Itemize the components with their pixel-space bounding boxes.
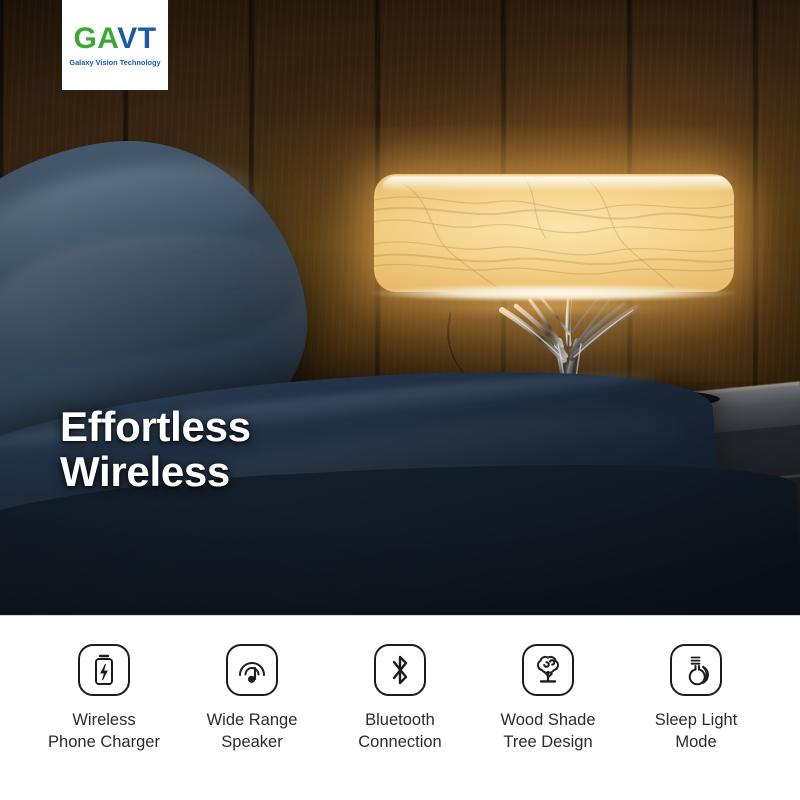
feature-item: Bluetooth Connection: [326, 644, 474, 754]
logo-wordmark-green: GA: [73, 22, 117, 55]
logo-wordmark: GAVT: [73, 24, 156, 54]
feature-label: Wood Shade Tree Design: [500, 710, 595, 754]
feature-item: Wood Shade Tree Design: [474, 644, 622, 754]
feature-label: Wide Range Speaker: [207, 710, 298, 754]
feature-item: Wide Range Speaker: [178, 644, 326, 754]
logo-tagline: Galaxy Vision Technology: [69, 58, 160, 67]
feature-label-line-2: Connection: [358, 732, 441, 754]
feature-label: Wireless Phone Charger: [48, 710, 160, 754]
feature-label-line-1: Wide Range: [207, 710, 298, 732]
hero-headline: Effortless Wireless: [60, 404, 251, 495]
brand-logo: GAVT Galaxy Vision Technology: [62, 0, 168, 90]
logo-wordmark-blue: VT: [117, 22, 156, 55]
feature-label-line-2: Phone Charger: [48, 732, 160, 754]
feature-strip: Wireless Phone Charger Wide Range Speake…: [0, 616, 800, 800]
feature-label-line-2: Tree Design: [500, 732, 595, 754]
photo-vignette: [0, 0, 800, 616]
product-marketing-image: Effortless Wireless GAVT Galaxy Vision T…: [0, 0, 800, 800]
tree-icon: [522, 644, 574, 696]
feature-label: Bluetooth Connection: [358, 710, 441, 754]
headline-line-2: Wireless: [60, 449, 251, 494]
feature-label-line-2: Mode: [655, 732, 738, 754]
bluetooth-icon: [374, 644, 426, 696]
battery-charging-icon: [78, 644, 130, 696]
feature-label-line-1: Sleep Light: [655, 710, 738, 732]
feature-label-line-1: Wood Shade: [500, 710, 595, 732]
feature-item: Sleep Light Mode: [622, 644, 770, 754]
feature-item: Wireless Phone Charger: [30, 644, 178, 754]
feature-label-line-1: Bluetooth: [358, 710, 441, 732]
feature-label: Sleep Light Mode: [655, 710, 738, 754]
headline-line-1: Effortless: [60, 404, 251, 449]
hero-photo: Effortless Wireless GAVT Galaxy Vision T…: [0, 0, 800, 616]
feature-label-line-2: Speaker: [207, 732, 298, 754]
feature-label-line-1: Wireless: [48, 710, 160, 732]
music-note-sound-waves-icon: [226, 644, 278, 696]
bulb-moon-icon: [670, 644, 722, 696]
